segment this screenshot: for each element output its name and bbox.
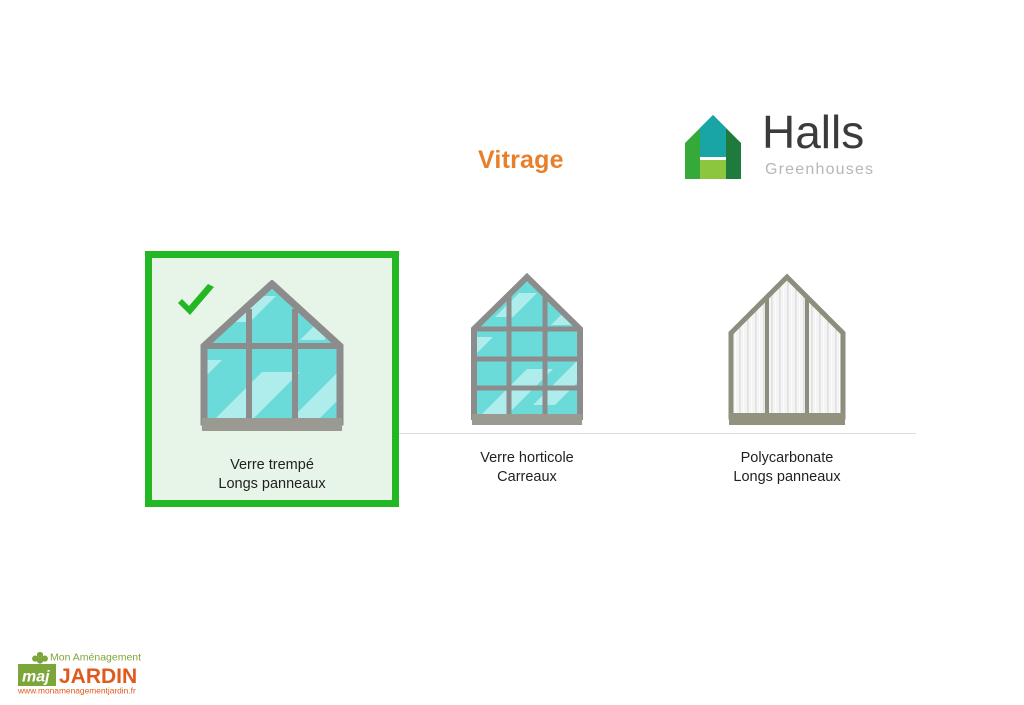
brand-logo: Halls Greenhouses [672,113,862,185]
brand-name: Halls [762,109,864,155]
tempered-glass-greenhouse [196,280,348,440]
polycarbonate-greenhouse [723,273,851,433]
greenhouse-illustration-tempered [152,280,392,440]
greenhouse-illustration-horticultural [400,273,654,433]
slide-canvas: Vitrage Halls Greenhouses [0,0,1024,705]
caption-line-1: Verre trempé [152,456,392,475]
option-caption: Verre horticole Carreaux [400,449,654,486]
option-card-verre-horticole[interactable]: Verre horticole Carreaux [400,251,654,507]
caption-line-1: Polycarbonate [660,449,914,468]
svg-text:Mon Aménagement: Mon Aménagement [50,652,141,664]
halls-house-icon [672,113,754,181]
caption-line-2: Longs panneaux [152,475,392,494]
option-card-polycarbonate[interactable]: Polycarbonate Longs panneaux [660,251,914,507]
option-card-verre-trempe[interactable]: Verre trempé Longs panneaux [145,251,399,507]
svg-text:maj: maj [22,669,50,686]
clover-icon [32,652,48,664]
caption-line-2: Longs panneaux [660,468,914,487]
svg-text:www.monamenagementjardin.fr: www.monamenagementjardin.fr [17,686,136,696]
horticultural-glass-greenhouse [467,273,587,433]
page-title: Vitrage [478,146,564,175]
option-caption: Verre trempé Longs panneaux [152,456,392,493]
brand-tagline: Greenhouses [765,161,874,179]
greenhouse-illustration-polycarbonate [660,273,914,433]
option-caption: Polycarbonate Longs panneaux [660,449,914,486]
caption-line-1: Verre horticole [400,449,654,468]
watermark-logo: Mon Aménagement maj JARDIN www.monamenag… [10,648,150,696]
mon-amenagement-jardin-logo: Mon Aménagement maj JARDIN www.monamenag… [10,648,150,696]
caption-line-2: Carreaux [400,468,654,487]
